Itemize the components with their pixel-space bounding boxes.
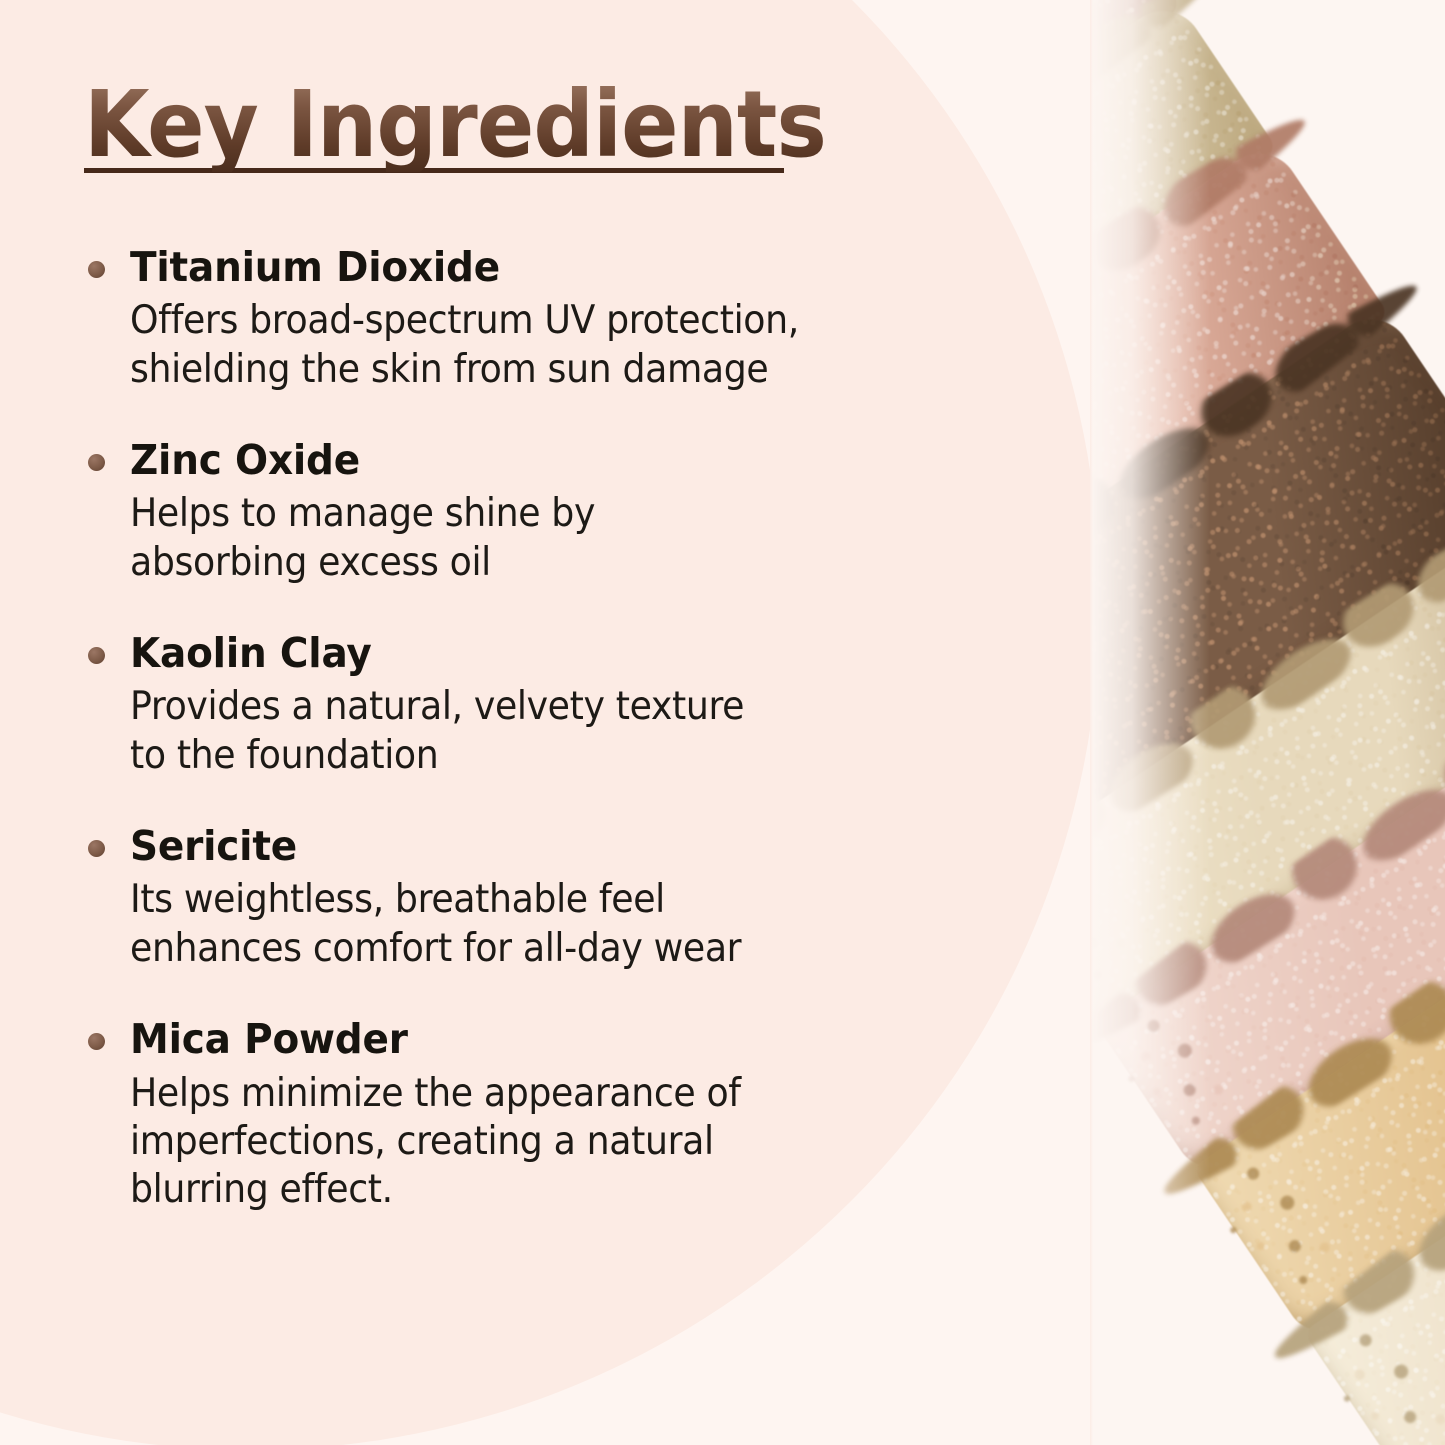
ingredient-description: Provides a natural, velvety texture to t… bbox=[130, 683, 967, 780]
bullet-dot-icon bbox=[88, 261, 105, 278]
powder-swatch-photo bbox=[1090, 0, 1445, 1445]
bullet-dot-icon bbox=[88, 1033, 105, 1050]
page-title-block: Key Ingredients bbox=[84, 78, 844, 173]
list-item: Titanium Dioxide Offers broad-spectrum U… bbox=[84, 243, 1030, 394]
bullet-dot-icon bbox=[88, 840, 105, 857]
ingredient-description: Helps minimize the appearance of imperfe… bbox=[130, 1070, 967, 1215]
list-item: Zinc Oxide Helps to manage shine by abso… bbox=[84, 436, 1030, 587]
list-item: Sericite Its weightless, breathable feel… bbox=[84, 822, 1030, 973]
ingredients-list: Titanium Dioxide Offers broad-spectrum U… bbox=[84, 243, 1030, 1215]
key-ingredients-poster: Key Ingredients Titanium Dioxide Offers … bbox=[0, 0, 1445, 1445]
ingredient-name: Mica Powder bbox=[130, 1015, 985, 1063]
ingredient-name: Kaolin Clay bbox=[130, 629, 985, 677]
bullet-dot-icon bbox=[88, 647, 105, 664]
ingredient-description: Helps to manage shine by absorbing exces… bbox=[130, 490, 967, 587]
page-title: Key Ingredients bbox=[84, 78, 826, 172]
ingredient-name: Zinc Oxide bbox=[130, 436, 985, 484]
ingredient-description: Its weightless, breathable feel enhances… bbox=[130, 876, 967, 973]
ingredient-name: Titanium Dioxide bbox=[130, 243, 985, 291]
list-item: Mica Powder Helps minimize the appearanc… bbox=[84, 1015, 1030, 1214]
ingredient-description: Offers broad-spectrum UV protection, shi… bbox=[130, 297, 967, 394]
content-column: Key Ingredients Titanium Dioxide Offers … bbox=[0, 0, 1090, 1445]
bullet-dot-icon bbox=[88, 454, 105, 471]
ingredient-name: Sericite bbox=[130, 822, 985, 870]
swatch-stack bbox=[1090, 0, 1445, 1445]
list-item: Kaolin Clay Provides a natural, velvety … bbox=[84, 629, 1030, 780]
